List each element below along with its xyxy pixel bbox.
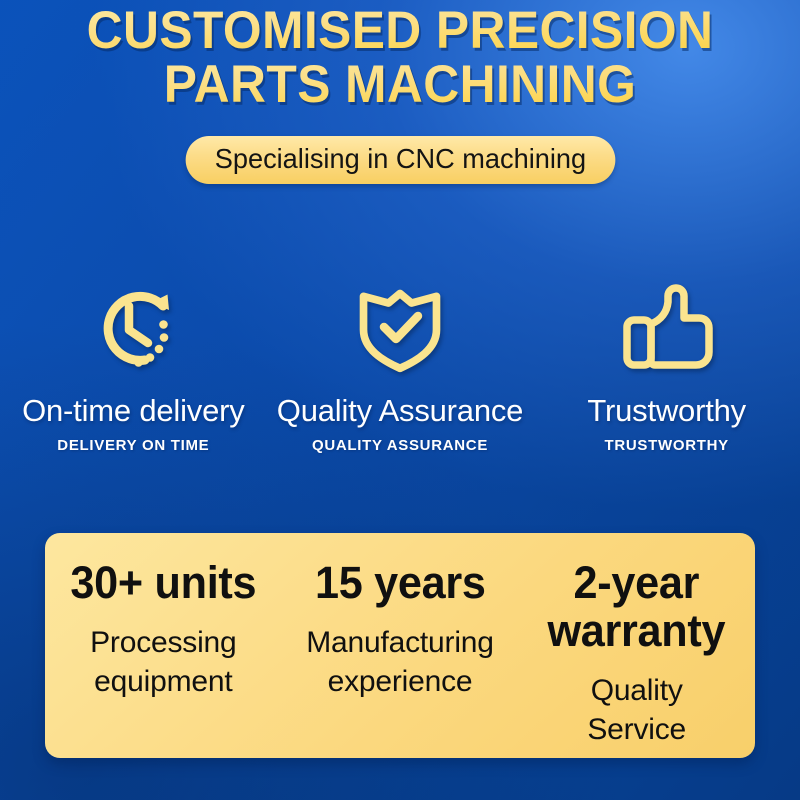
feature-title: Trustworthy: [533, 394, 800, 428]
stat-label-line-1: Manufacturing: [282, 623, 519, 662]
stat-label-line-2: experience: [282, 662, 519, 701]
stat-item-warranty: 2-year warranty Quality Service: [518, 533, 755, 758]
stat-value: 2-year warranty: [523, 559, 750, 655]
stat-value-line-2: warranty: [523, 607, 750, 655]
stat-value: 15 years: [286, 559, 513, 607]
stat-label-line-2: Service: [518, 710, 755, 749]
stat-label: Quality Service: [518, 671, 755, 749]
stat-value-line-1: 2-year: [523, 559, 750, 607]
headline-line-1: CUSTOMISED PRECISION: [24, 4, 776, 58]
clock-arrow-icon: [0, 276, 267, 380]
stat-value: 30+ units: [50, 559, 277, 607]
stat-label-line-1: Quality: [518, 671, 755, 710]
feature-item-on-time-delivery: On-time delivery DELIVERY ON TIME: [0, 276, 267, 455]
feature-item-trustworthy: Trustworthy TRUSTWORTHY: [533, 276, 800, 455]
thumbs-up-icon: [533, 276, 800, 380]
promo-banner: CUSTOMISED PRECISION PARTS MACHINING Spe…: [0, 0, 800, 800]
feature-subtitle: DELIVERY ON TIME: [0, 437, 267, 455]
stats-card: 30+ units Processing equipment 15 years …: [45, 533, 755, 758]
feature-title: On-time delivery: [0, 394, 267, 428]
stat-label: Manufacturing experience: [282, 623, 519, 701]
feature-subtitle: TRUSTWORTHY: [533, 437, 800, 455]
subtitle-pill: Specialising in CNC machining: [185, 136, 615, 184]
feature-subtitle: QUALITY ASSURANCE: [267, 437, 534, 455]
page-title: CUSTOMISED PRECISION PARTS MACHINING: [0, 4, 800, 112]
subtitle-pill-container: Specialising in CNC machining: [0, 136, 800, 184]
stat-item-units: 30+ units Processing equipment: [45, 533, 282, 758]
stat-label-line-2: equipment: [45, 662, 282, 701]
feature-list: On-time delivery DELIVERY ON TIME Qualit…: [0, 276, 800, 455]
stat-item-years: 15 years Manufacturing experience: [282, 533, 519, 758]
headline-line-2: PARTS MACHINING: [24, 58, 776, 112]
stat-label: Processing equipment: [45, 623, 282, 701]
shield-check-icon: [267, 276, 534, 380]
stat-label-line-1: Processing: [45, 623, 282, 662]
feature-item-quality-assurance: Quality Assurance QUALITY ASSURANCE: [267, 276, 534, 455]
feature-title: Quality Assurance: [267, 394, 534, 428]
